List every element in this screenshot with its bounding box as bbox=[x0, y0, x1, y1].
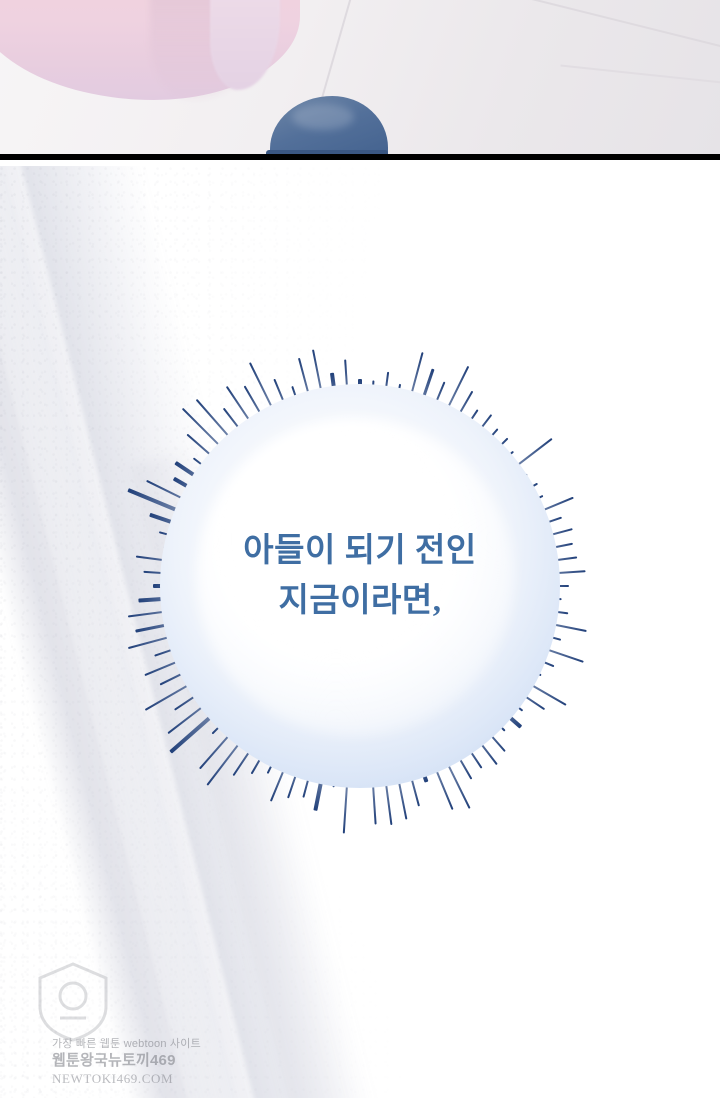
dialogue-text: 아들이 되기 전인 지금이라면, bbox=[140, 526, 580, 626]
panel-border bbox=[0, 154, 720, 160]
comic-page: 아들이 되기 전인 지금이라면, 가장 빠른 웹툰 webtoon 사이트 웹툰… bbox=[0, 0, 720, 1098]
watermark-line-3: NEWTOKI469.COM bbox=[52, 1071, 352, 1086]
watermark-line-2: 웹툰왕국뉴토끼469 bbox=[52, 1052, 352, 1070]
top-panel bbox=[0, 0, 720, 160]
watermark: 가장 빠른 웹툰 webtoon 사이트 웹툰왕국뉴토끼469 NEWTOKI4… bbox=[52, 1038, 352, 1086]
watermark-line-1: 가장 빠른 웹툰 webtoon 사이트 bbox=[52, 1038, 352, 1051]
shoe-highlight bbox=[292, 104, 354, 130]
main-panel: 아들이 되기 전인 지금이라면, 가장 빠른 웹툰 webtoon 사이트 웹툰… bbox=[0, 166, 720, 1098]
crest-icon bbox=[36, 962, 110, 1042]
